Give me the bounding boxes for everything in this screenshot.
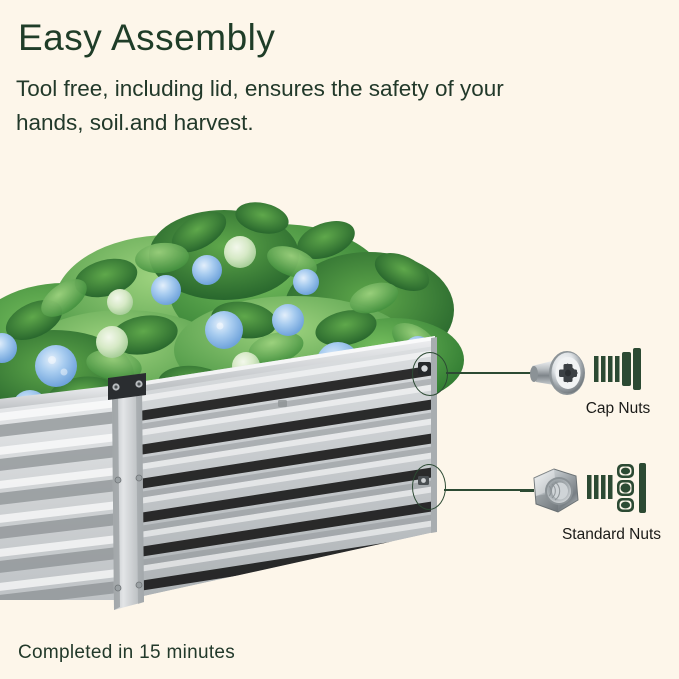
planter-left-face bbox=[0, 388, 126, 610]
cap-nut-photo bbox=[526, 344, 594, 402]
cap-nuts-marker-ellipse bbox=[412, 352, 448, 396]
planter-illustration bbox=[0, 170, 454, 600]
standard-nut-icon bbox=[586, 462, 650, 514]
assembly-time-note: Completed in 15 minutes bbox=[18, 642, 235, 664]
callout-cap-nuts: Cap Nuts bbox=[524, 340, 679, 430]
page-title: Easy Assembly bbox=[18, 16, 275, 60]
subtitle-line-1: Tool free, including lid, ensures the sa… bbox=[16, 72, 636, 106]
page-subtitle: Tool free, including lid, ensures the sa… bbox=[16, 72, 636, 140]
standard-nuts-marker-ellipse bbox=[412, 464, 446, 510]
standard-nuts-label: Standard Nuts bbox=[544, 526, 679, 544]
panel-screw-mid bbox=[278, 400, 287, 407]
cap-nuts-leader-line bbox=[446, 372, 532, 374]
callout-standard-nuts: Standard Nuts bbox=[516, 458, 679, 554]
hex-nut-photo bbox=[520, 462, 590, 522]
cap-nut-icon bbox=[592, 346, 650, 394]
infographic-canvas: Easy Assembly Tool free, including lid, … bbox=[0, 0, 679, 679]
subtitle-line-2: hands, soil.and harvest. bbox=[16, 106, 636, 140]
cap-nuts-label: Cap Nuts bbox=[558, 400, 678, 418]
planter-corner-post bbox=[112, 388, 144, 610]
standard-nuts-leader-line bbox=[444, 489, 524, 491]
raised-garden-bed-image bbox=[0, 170, 454, 600]
